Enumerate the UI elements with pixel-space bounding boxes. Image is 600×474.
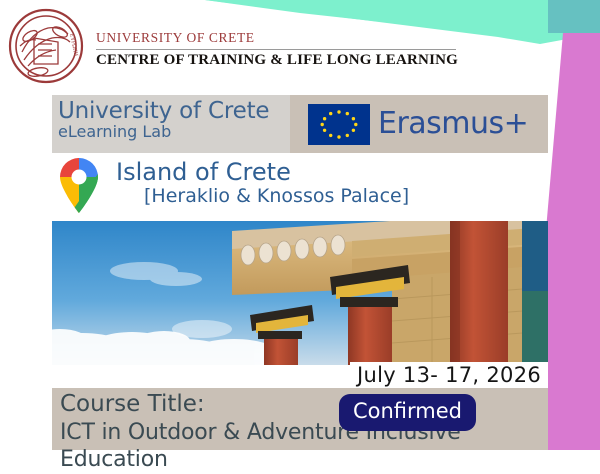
google-maps-pin-icon — [56, 158, 102, 214]
course-date-band: July 13- 17, 2026 — [350, 362, 548, 388]
erasmus-wordmark: Erasmus+ — [378, 109, 528, 139]
university-of-crete-seal: ΕΥΡΩΠΗ — [8, 8, 84, 84]
letterhead-divider — [96, 49, 456, 50]
column-right — [450, 221, 508, 365]
svg-text:ΕΥΡΩΠΗ: ΕΥΡΩΠΗ — [68, 33, 79, 57]
erasmus-band: Erasmus+ — [290, 95, 548, 153]
location-text: Island of Crete [Heraklio & Knossos Pala… — [116, 158, 409, 208]
knossos-palace-photo — [52, 221, 548, 365]
course-title-text: ICT in Outdoor & Adventure Inclusive Edu… — [60, 419, 548, 474]
location-detail: [Heraklio & Knossos Palace] — [116, 186, 409, 208]
university-name: University of Crete — [58, 99, 290, 123]
letterhead-text: UNIVERSITY OF CRETE CENTRE OF TRAINING &… — [96, 8, 458, 69]
letterhead: ΕΥΡΩΠΗ UNIVERSITY OF CRETE CENTRE OF TRA… — [8, 8, 488, 86]
course-date: July 13- 17, 2026 — [357, 363, 541, 387]
european-union-flag — [308, 104, 370, 145]
location-band: Island of Crete [Heraklio & Knossos Pala… — [52, 158, 548, 220]
letterhead-university-line: UNIVERSITY OF CRETE — [96, 30, 458, 46]
status-badge: Confirmed — [339, 394, 476, 431]
university-band: University of Crete eLearning Lab — [52, 95, 290, 153]
location-name: Island of Crete — [116, 160, 409, 186]
elearning-lab-label: eLearning Lab — [58, 123, 290, 141]
teal-block-shape — [548, 0, 600, 33]
course-title-band: Course Title: ICT in Outdoor & Adventure… — [52, 388, 548, 450]
letterhead-centre-line: CENTRE OF TRAINING & LIFE LONG LEARNING — [96, 52, 458, 69]
